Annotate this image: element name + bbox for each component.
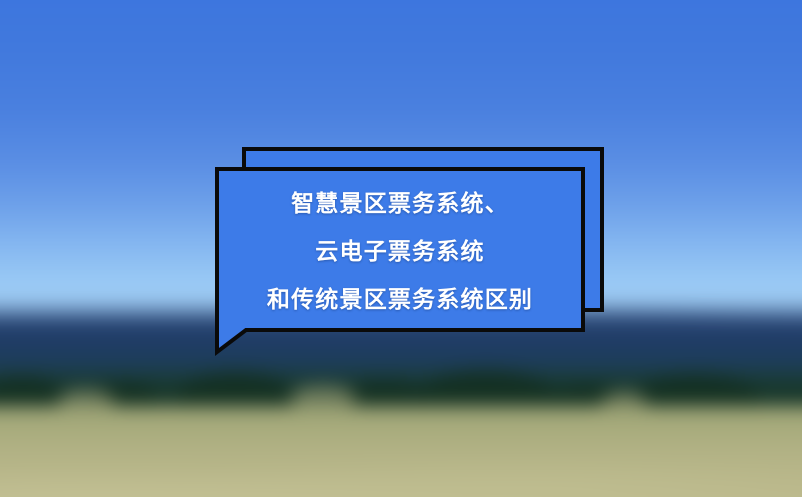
grass-field-layer	[0, 406, 802, 497]
bubble-line-2: 云电子票务系统	[219, 228, 581, 276]
field-texture	[0, 406, 802, 497]
bubble-line-1: 智慧景区票务系统、	[219, 180, 581, 228]
bubble-text-block: 智慧景区票务系统、 云电子票务系统 和传统景区票务系统区别	[219, 180, 581, 324]
bubble-line-3: 和传统景区票务系统区别	[219, 276, 581, 324]
screenshot-canvas: 智慧景区票务系统、 云电子票务系统 和传统景区票务系统区别	[0, 0, 802, 497]
